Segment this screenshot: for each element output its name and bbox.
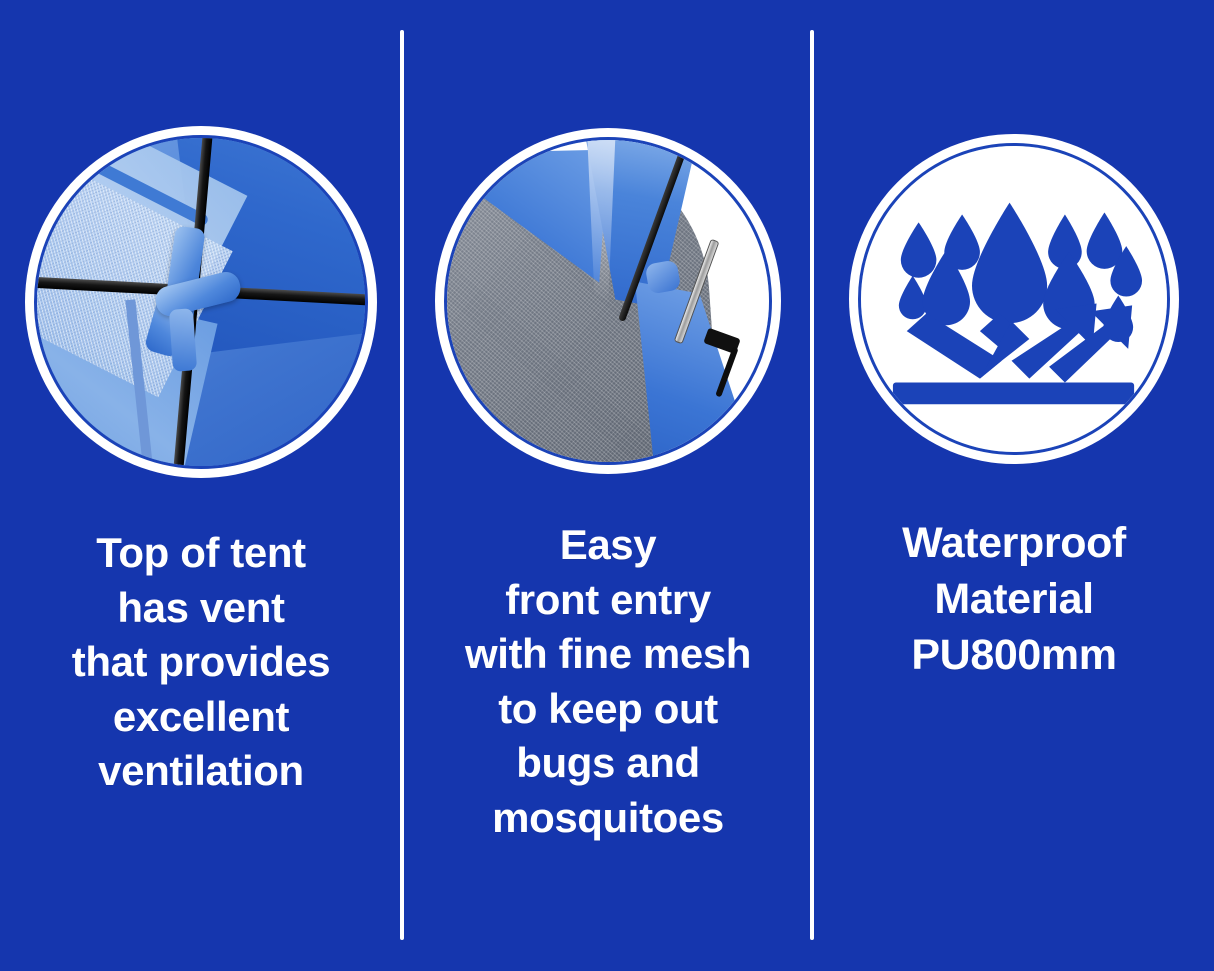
feature-panel-front-entry: Easy front entry with fine mesh to keep … <box>404 0 812 971</box>
feature-caption-waterproof: Waterproof Material PU800mm <box>902 516 1126 684</box>
front-entry-mesh-photo <box>435 128 781 474</box>
waterproof-icon <box>861 146 1167 452</box>
feature-caption-front-entry: Easy front entry with fine mesh to keep … <box>465 518 751 846</box>
feature-caption-ventilation: Top of tent has vent that provides excel… <box>72 526 331 799</box>
feature-panel-ventilation: Top of tent has vent that provides excel… <box>0 0 402 971</box>
feature-panel-waterproof: Waterproof Material PU800mm <box>814 0 1214 971</box>
infographic-board: Top of tent has vent that provides excel… <box>0 0 1214 971</box>
tent-top-vent-photo <box>25 126 377 478</box>
waterproof-badge <box>849 134 1179 464</box>
